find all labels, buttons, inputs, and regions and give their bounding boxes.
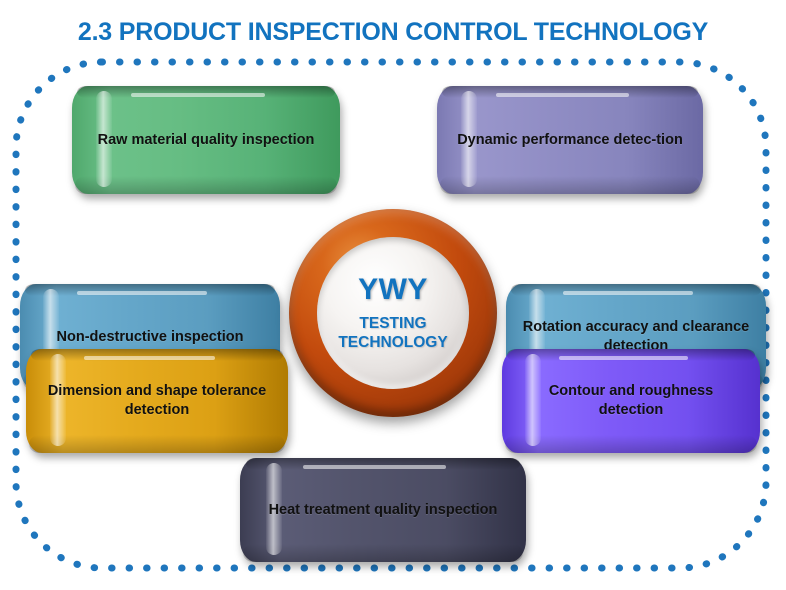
node-dynamic-performance-detection[interactable]: Dynamic performance detec-tion: [437, 86, 703, 194]
node-raw-material-quality-inspection[interactable]: Raw material quality inspection: [72, 86, 340, 194]
center-subtitle-line2: TECHNOLOGY: [338, 334, 447, 353]
cylinder-specular: [496, 93, 629, 97]
node-label: Dimension and shape tolerance detection: [42, 382, 272, 419]
cylinder-specular: [84, 356, 215, 360]
node-label: Non-destructive inspection: [57, 328, 244, 347]
cylinder-specular: [131, 93, 265, 97]
cylinder-specular: [563, 291, 693, 295]
node-label: Heat treatment quality inspection: [269, 501, 498, 520]
node-label: Raw material quality inspection: [98, 131, 315, 150]
cylinder-specular: [303, 465, 446, 469]
node-heat-treatment-quality-inspection[interactable]: Heat treatment quality inspection: [240, 458, 526, 562]
node-label: Dynamic performance detec-tion: [457, 131, 683, 150]
center-brand-text: YWY: [358, 273, 428, 307]
center-emblem-inner: YWY TESTING TECHNOLOGY: [317, 237, 469, 389]
page-title: 2.3 PRODUCT INSPECTION CONTROL TECHNOLOG…: [0, 18, 786, 47]
cylinder-specular: [559, 356, 688, 360]
center-subtitle-line1: TESTING: [338, 315, 447, 334]
center-subtitle: TESTING TECHNOLOGY: [338, 315, 447, 353]
cylinder-specular: [77, 291, 207, 295]
center-emblem[interactable]: YWY TESTING TECHNOLOGY: [289, 209, 497, 417]
diagram-canvas: 2.3 PRODUCT INSPECTION CONTROL TECHNOLOG…: [0, 0, 786, 590]
node-contour-and-roughness-detection[interactable]: Contour and roughness detection: [502, 349, 760, 453]
node-dimension-and-shape-tolerance-detection[interactable]: Dimension and shape tolerance detection: [26, 349, 288, 453]
node-label: Contour and roughness detection: [518, 382, 744, 419]
